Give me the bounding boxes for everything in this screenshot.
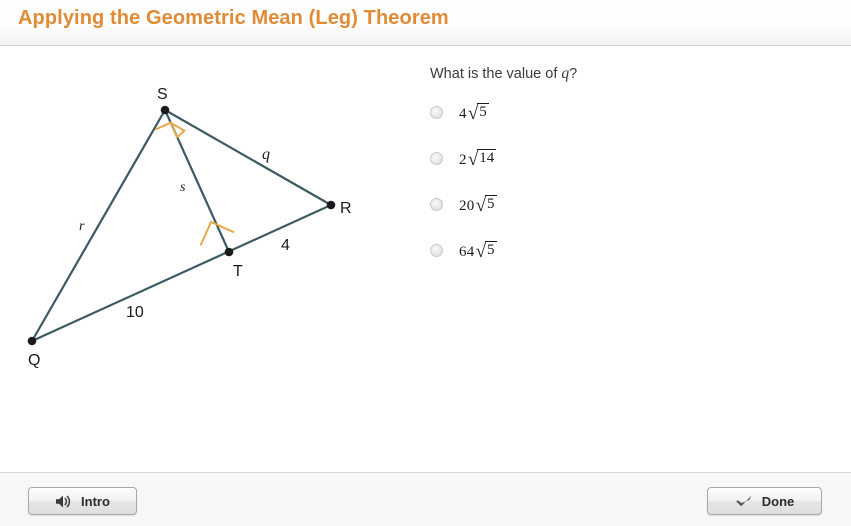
answer-option-1[interactable]: 4 √ 5 <box>430 96 820 130</box>
question-prompt: What is the value of q? <box>430 65 820 84</box>
question-panel: What is the value of q? 4 √ 5 2 <box>430 65 820 280</box>
label-r: r <box>79 219 85 234</box>
done-button[interactable]: Done <box>707 487 822 515</box>
vertex-labels: S Q T R <box>28 86 352 369</box>
option-2-radical: √ 14 <box>468 149 496 168</box>
vertex-points <box>28 106 336 346</box>
label-10: 10 <box>126 304 144 321</box>
label-s: s <box>180 180 186 195</box>
vertex-point-S <box>161 106 170 115</box>
prompt-text-after: ? <box>569 66 577 82</box>
option-4-coefficient: 64 <box>459 244 475 261</box>
option-3-coefficient: 20 <box>459 198 475 215</box>
option-1-radical: √ 5 <box>468 103 489 122</box>
radio-button-option-1[interactable] <box>430 106 443 119</box>
radio-button-option-2[interactable] <box>430 152 443 165</box>
answer-option-2-label[interactable]: 2 √ 14 <box>459 149 496 169</box>
vertex-label-R: R <box>340 200 352 217</box>
angle-mark-STQ <box>201 222 235 246</box>
geometry-figure: S Q T R q s r 4 10 <box>0 47 420 407</box>
label-4: 4 <box>281 237 290 254</box>
answer-options-list: 4 √ 5 2 √ 14 <box>430 96 820 268</box>
right-angle-marks <box>156 123 235 246</box>
triangle-edges <box>32 110 331 341</box>
prompt-text-before: What is the value of <box>430 66 561 82</box>
vertex-point-R <box>327 201 336 210</box>
answer-option-3-label[interactable]: 20 √ 5 <box>459 195 497 215</box>
radio-button-option-3[interactable] <box>430 198 443 211</box>
segment-length-labels: q s r 4 10 <box>79 146 290 321</box>
figure-svg: S Q T R q s r 4 10 <box>0 47 420 407</box>
option-4-radicand: 5 <box>485 241 497 260</box>
label-q: q <box>262 146 270 163</box>
radical-sign-icon: √ <box>476 242 486 261</box>
vertex-point-T <box>225 248 234 257</box>
answer-option-1-label[interactable]: 4 √ 5 <box>459 103 489 123</box>
prompt-variable: q <box>561 65 569 82</box>
vertex-point-Q <box>28 337 37 346</box>
segment-SR <box>165 110 331 205</box>
check-icon <box>735 494 753 509</box>
answer-option-3[interactable]: 20 √ 5 <box>430 188 820 222</box>
option-3-radicand: 5 <box>485 195 497 214</box>
intro-button-label: Intro <box>81 494 110 509</box>
header-bar: Applying the Geometric Mean (Leg) Theore… <box>0 0 851 46</box>
footer-bar: Intro Done <box>0 472 851 526</box>
vertex-label-T: T <box>233 263 243 280</box>
vertex-label-S: S <box>157 86 168 103</box>
intro-button[interactable]: Intro <box>28 487 137 515</box>
option-2-radicand: 14 <box>477 149 496 168</box>
radical-sign-icon: √ <box>476 196 486 215</box>
activity-screen: Applying the Geometric Mean (Leg) Theore… <box>0 0 851 526</box>
answer-option-2[interactable]: 2 √ 14 <box>430 142 820 176</box>
answer-option-4[interactable]: 64 √ 5 <box>430 234 820 268</box>
radical-sign-icon: √ <box>468 104 478 123</box>
vertex-label-Q: Q <box>28 352 40 369</box>
option-1-coefficient: 4 <box>459 106 467 123</box>
option-4-radical: √ 5 <box>476 241 497 260</box>
segment-QS <box>32 110 165 341</box>
radical-sign-icon: √ <box>468 150 478 169</box>
segment-QR <box>32 205 331 341</box>
option-3-radical: √ 5 <box>476 195 497 214</box>
done-button-label: Done <box>762 494 795 509</box>
radio-button-option-4[interactable] <box>430 244 443 257</box>
answer-option-4-label[interactable]: 64 √ 5 <box>459 241 497 261</box>
option-1-radicand: 5 <box>477 103 489 122</box>
speaker-icon <box>55 494 72 509</box>
content-area: S Q T R q s r 4 10 What is the value of … <box>0 47 851 472</box>
option-2-coefficient: 2 <box>459 152 467 169</box>
page-title: Applying the Geometric Mean (Leg) Theore… <box>18 7 449 30</box>
